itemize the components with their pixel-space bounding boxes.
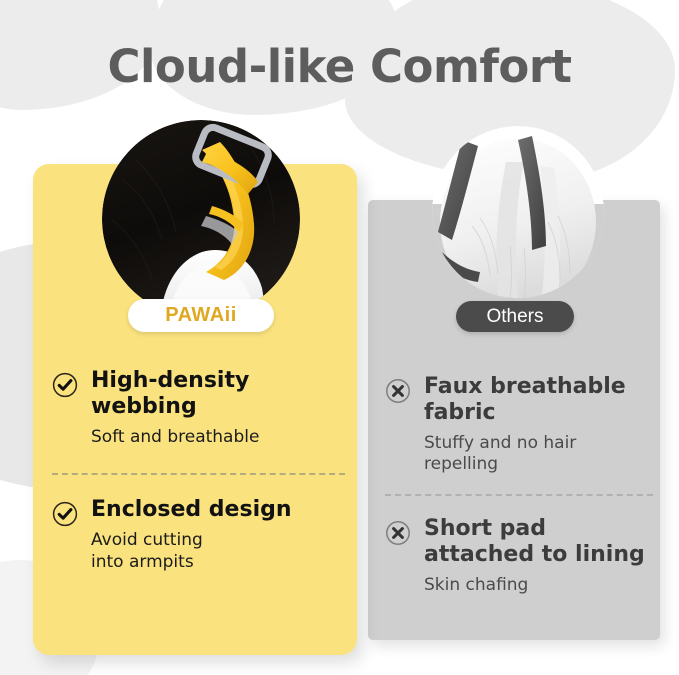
feature-divider bbox=[52, 473, 345, 475]
check-circle-icon bbox=[52, 501, 78, 527]
pawaii-badge: PAWAii bbox=[128, 299, 274, 332]
feature-subtitle: Stuffy and no hair repelling bbox=[424, 433, 655, 476]
feature-subtitle: Skin chafing bbox=[424, 575, 655, 597]
feature-divider bbox=[385, 494, 653, 496]
feature-text: Short pad attached to lining Skin chafin… bbox=[424, 516, 655, 596]
others-feature-list: Faux breathable fabric Stuffy and no hai… bbox=[385, 374, 655, 597]
others-product-photo bbox=[432, 126, 604, 298]
pawaii-product-photo bbox=[102, 120, 300, 318]
feature-text: Faux breathable fabric Stuffy and no hai… bbox=[424, 374, 655, 476]
page-title: Cloud-like Comfort bbox=[0, 40, 679, 93]
feature-text: Enclosed design Avoid cutting into armpi… bbox=[91, 497, 352, 573]
feature-title: Faux breathable fabric bbox=[424, 374, 655, 426]
feature-item: High-density webbing Soft and breathable bbox=[52, 368, 352, 448]
others-badge: Others bbox=[456, 301, 574, 332]
feature-subtitle: Soft and breathable bbox=[91, 427, 352, 449]
others-badge-label: Others bbox=[486, 306, 543, 328]
feature-title: Enclosed design bbox=[91, 497, 352, 523]
x-circle-icon bbox=[385, 378, 411, 404]
feature-subtitle: Avoid cutting into armpits bbox=[91, 530, 352, 573]
feature-item: Faux breathable fabric Stuffy and no hai… bbox=[385, 374, 655, 476]
pawaii-badge-label: PAWAii bbox=[165, 304, 237, 327]
feature-title: High-density webbing bbox=[91, 368, 352, 420]
check-circle-icon bbox=[52, 372, 78, 398]
x-circle-icon bbox=[385, 520, 411, 546]
feature-text: High-density webbing Soft and breathable bbox=[91, 368, 352, 448]
feature-title: Short pad attached to lining bbox=[424, 516, 655, 568]
feature-item: Short pad attached to lining Skin chafin… bbox=[385, 516, 655, 596]
pawaii-feature-list: High-density webbing Soft and breathable… bbox=[52, 368, 352, 574]
infographic-root: Cloud-like Comfort bbox=[0, 0, 679, 675]
feature-item: Enclosed design Avoid cutting into armpi… bbox=[52, 497, 352, 573]
